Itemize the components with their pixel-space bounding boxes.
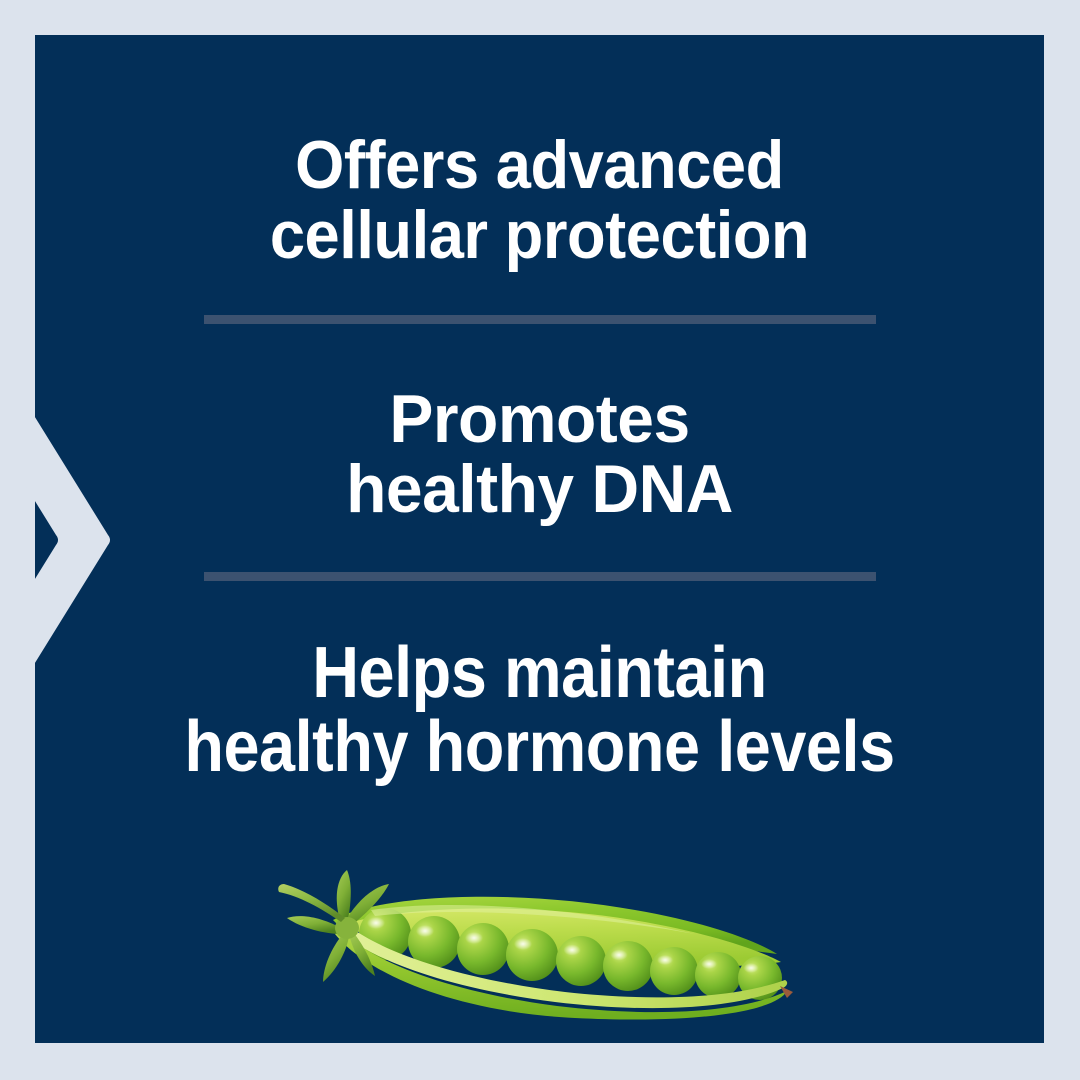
pea <box>556 936 606 986</box>
pea-pod-image <box>275 862 795 1022</box>
pea-pod-graphic <box>278 870 793 1020</box>
pea <box>457 923 509 975</box>
pea <box>695 952 741 998</box>
poster-canvas: Offers advanced cellular protection Prom… <box>0 0 1080 1080</box>
pea <box>650 947 698 995</box>
sepal <box>323 934 349 982</box>
pod-stem <box>278 884 345 922</box>
benefit-text-cellular-protection: Offers advanced cellular protection <box>70 130 1008 270</box>
divider-above-dna <box>204 315 876 324</box>
divider-above-hormone <box>204 572 876 581</box>
benefit-text-hormone-levels: Helps maintain healthy hormone levels <box>85 636 993 784</box>
pea <box>506 929 558 981</box>
sepal <box>287 916 341 934</box>
pea <box>603 941 653 991</box>
benefit-text-healthy-dna: Promotes healthy DNA <box>50 384 1029 524</box>
